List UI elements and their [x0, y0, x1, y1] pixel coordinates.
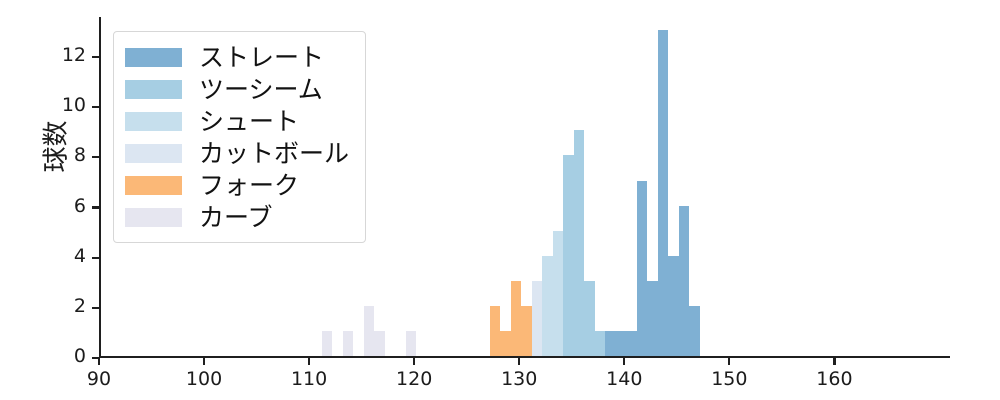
x-tick-label: 140 — [589, 368, 659, 390]
y-tick-mark — [92, 106, 99, 108]
histogram-bar — [679, 206, 690, 356]
histogram-bar — [532, 281, 543, 356]
histogram-bar — [668, 256, 679, 356]
y-tick-mark — [92, 206, 99, 208]
histogram-bar — [658, 30, 669, 356]
histogram-bar — [364, 306, 375, 356]
legend: ストレートツーシームシュートカットボールフォークカーブ — [113, 31, 366, 243]
histogram-bar — [626, 331, 637, 356]
legend-item-4[interactable]: フォーク — [125, 169, 349, 201]
histogram-bar — [343, 331, 354, 356]
histogram-bar — [406, 331, 417, 356]
legend-label: フォーク — [199, 173, 299, 198]
legend-item-0[interactable]: ストレート — [125, 41, 349, 73]
histogram-bar — [521, 306, 532, 356]
histogram-bar — [647, 281, 658, 356]
x-tick-mark — [728, 358, 730, 365]
legend-swatch-icon — [125, 144, 182, 163]
legend-item-1[interactable]: ツーシーム — [125, 73, 349, 105]
histogram-bar — [322, 331, 333, 356]
y-tick-label: 2 — [46, 295, 86, 317]
legend-label: シュート — [199, 109, 299, 134]
x-tick-label: 120 — [379, 368, 449, 390]
x-tick-label: 150 — [694, 368, 764, 390]
legend-label: カットボール — [199, 141, 349, 166]
x-tick-label: 160 — [799, 368, 869, 390]
legend-item-2[interactable]: シュート — [125, 105, 349, 137]
histogram-bar — [553, 231, 564, 356]
x-tick-label: 130 — [484, 368, 554, 390]
histogram-bar — [511, 281, 522, 356]
y-tick-mark — [92, 257, 99, 259]
y-tick-mark — [92, 307, 99, 309]
x-tick-mark — [833, 358, 835, 365]
x-tick-mark — [518, 358, 520, 365]
y-tick-mark — [92, 56, 99, 58]
histogram-bar — [542, 256, 553, 356]
y-tick-label: 12 — [46, 44, 86, 66]
histogram-bar — [490, 306, 501, 356]
pitch-speed-histogram-chart: 球数 024681012 90100110120130140150160 ストレ… — [0, 0, 1000, 400]
legend-label: カーブ — [199, 205, 273, 230]
histogram-bar — [574, 130, 585, 356]
legend-item-3[interactable]: カットボール — [125, 137, 349, 169]
y-tick-label: 10 — [46, 94, 86, 116]
histogram-bar — [605, 331, 616, 356]
histogram-bar — [500, 331, 511, 356]
legend-swatch-icon — [125, 176, 182, 195]
histogram-bar — [563, 155, 574, 356]
y-tick-label: 0 — [46, 345, 86, 367]
legend-label: ツーシーム — [199, 77, 323, 102]
x-tick-mark — [98, 358, 100, 365]
histogram-bar — [637, 181, 648, 357]
x-tick-mark — [623, 358, 625, 365]
x-tick-label: 110 — [274, 368, 344, 390]
histogram-bar — [374, 331, 385, 356]
histogram-bar — [584, 281, 595, 356]
x-tick-label: 90 — [64, 368, 134, 390]
histogram-bar — [595, 331, 606, 356]
x-tick-mark — [203, 358, 205, 365]
legend-swatch-icon — [125, 48, 182, 67]
legend-swatch-icon — [125, 208, 182, 227]
y-tick-mark — [92, 156, 99, 158]
histogram-bar — [616, 331, 627, 356]
y-tick-label: 4 — [46, 245, 86, 267]
legend-label: ストレート — [199, 45, 324, 70]
legend-swatch-icon — [125, 112, 182, 131]
y-tick-label: 6 — [46, 195, 86, 217]
legend-swatch-icon — [125, 80, 182, 99]
legend-item-5[interactable]: カーブ — [125, 201, 349, 233]
y-tick-label: 8 — [46, 144, 86, 166]
histogram-bar — [689, 306, 700, 356]
x-tick-label: 100 — [169, 368, 239, 390]
x-tick-mark — [413, 358, 415, 365]
x-tick-mark — [308, 358, 310, 365]
